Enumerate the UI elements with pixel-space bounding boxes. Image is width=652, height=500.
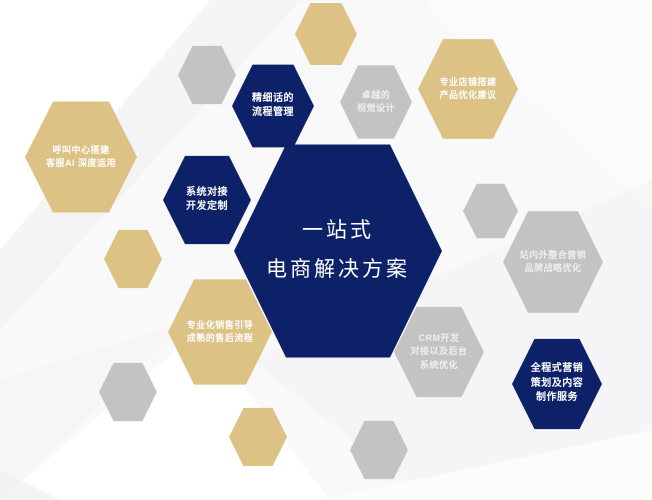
center-title-line1: 一站式 bbox=[266, 212, 410, 251]
hexagon-visual-design-label: 卓越的 视觉设计 bbox=[357, 89, 395, 115]
hexagon-sales-guidance-label: 专业化销售引导 成熟的售后流程 bbox=[187, 319, 254, 345]
hexagon-store-building-label: 专业店铺搭建 产品优化建议 bbox=[439, 76, 496, 102]
hexagon-integrated-marketing-label: 站内外整合营销 品牌战略优化 bbox=[520, 249, 587, 275]
hexagon-full-cycle-marketing-label: 全程式营销 策划及内容 制作服务 bbox=[531, 362, 584, 406]
hexagon-call-center-label: 呼叫中心搭建 客服AI 深度运用 bbox=[46, 144, 116, 170]
center-title-line2: 电商解决方案 bbox=[266, 251, 410, 290]
hexagon-system-integration-label: 系统对接 开发定制 bbox=[186, 186, 228, 215]
infographic-canvas: 呼叫中心搭建 客服AI 深度运用 系统对接 开发定制 精细话的 流程管理 卓越的… bbox=[0, 0, 652, 500]
center-title-block: 一站式 电商解决方案 bbox=[266, 212, 410, 290]
hexagon-crm-development-label: CRM开发 对接以及后台 系统优化 bbox=[410, 332, 467, 371]
hexagon-process-management-label: 精细话的 流程管理 bbox=[252, 92, 294, 121]
